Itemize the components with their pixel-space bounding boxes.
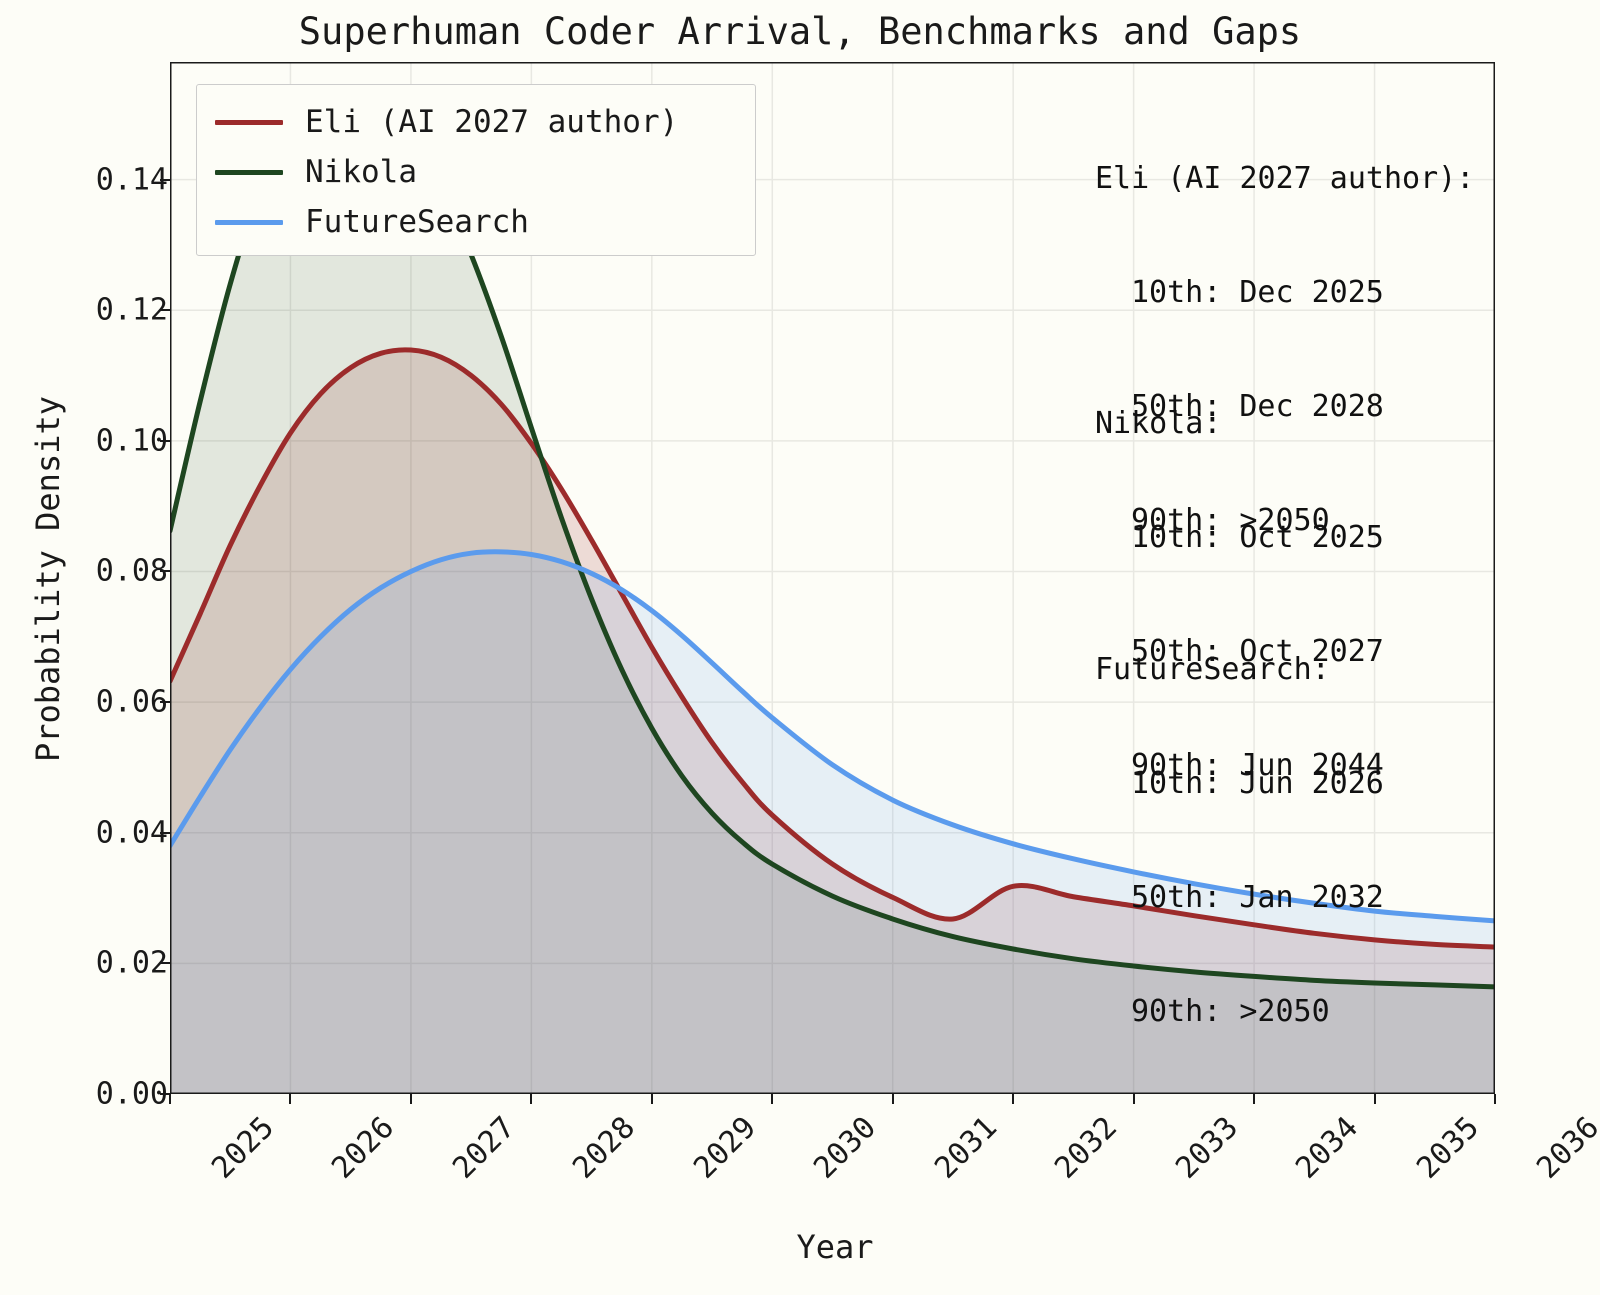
x-tick-label-10: 2035 xyxy=(1410,1110,1486,1186)
x-tick-mark-3 xyxy=(530,1094,532,1104)
legend-swatch-eli xyxy=(215,120,283,125)
x-tick-label-6: 2031 xyxy=(928,1110,1004,1186)
y-tick-mark-5 xyxy=(160,440,170,442)
legend-item-nikola[interactable]: Nikola xyxy=(197,147,755,197)
x-tick-mark-7 xyxy=(1012,1094,1014,1104)
legend: Eli (AI 2027 author) Nikola FutureSearch xyxy=(196,84,756,256)
legend-swatch-futuresearch xyxy=(215,220,283,225)
legend-item-eli[interactable]: Eli (AI 2027 author) xyxy=(197,97,755,147)
x-tick-mark-2 xyxy=(410,1094,412,1104)
y-tick-mark-7 xyxy=(160,179,170,181)
x-tick-label-3: 2028 xyxy=(567,1110,643,1186)
y-tick-label-6: 0.12 xyxy=(28,293,168,328)
y-tick-label-4: 0.08 xyxy=(28,554,168,589)
legend-label-futuresearch: FutureSearch xyxy=(305,204,529,240)
legend-label-nikola: Nikola xyxy=(305,154,417,190)
legend-swatch-nikola xyxy=(215,170,283,175)
chart-figure: Superhuman Coder Arrival, Benchmarks and… xyxy=(0,0,1600,1295)
y-tick-mark-6 xyxy=(160,309,170,311)
annotation-futuresearch-p10: 10th: Jun 2026 xyxy=(1095,765,1384,803)
x-tick-label-9: 2034 xyxy=(1289,1110,1365,1186)
y-tick-mark-1 xyxy=(160,962,170,964)
y-tick-label-3: 0.06 xyxy=(28,685,168,720)
x-tick-mark-1 xyxy=(289,1094,291,1104)
y-tick-label-2: 0.04 xyxy=(28,815,168,850)
y-tick-mark-2 xyxy=(160,832,170,834)
x-tick-mark-4 xyxy=(651,1094,653,1104)
annotation-futuresearch-p90: 90th: >2050 xyxy=(1095,993,1384,1031)
annotation-nikola-p10: 10th: Oct 2025 xyxy=(1095,519,1384,557)
x-tick-label-8: 2033 xyxy=(1169,1110,1245,1186)
x-tick-label-1: 2026 xyxy=(326,1110,402,1186)
annotation-eli-p10: 10th: Dec 2025 xyxy=(1095,274,1474,312)
x-tick-label-0: 2025 xyxy=(205,1110,281,1186)
y-tick-label-5: 0.10 xyxy=(28,423,168,458)
y-tick-mark-3 xyxy=(160,701,170,703)
page-title: Superhuman Coder Arrival, Benchmarks and… xyxy=(0,10,1600,53)
x-tick-mark-0 xyxy=(169,1094,171,1104)
legend-label-eli: Eli (AI 2027 author) xyxy=(305,104,678,140)
annotation-futuresearch-header: FutureSearch: xyxy=(1095,651,1384,689)
y-tick-label-7: 0.14 xyxy=(28,162,168,197)
x-tick-label-7: 2032 xyxy=(1048,1110,1124,1186)
y-tick-label-1: 0.02 xyxy=(28,946,168,981)
y-tick-label-0: 0.00 xyxy=(28,1077,168,1112)
legend-item-futuresearch[interactable]: FutureSearch xyxy=(197,197,755,247)
annotation-futuresearch: FutureSearch: 10th: Jun 2026 50th: Jan 2… xyxy=(1095,575,1384,1107)
x-tick-mark-11 xyxy=(1494,1094,1496,1104)
x-tick-label-5: 2030 xyxy=(807,1110,883,1186)
x-axis-label: Year xyxy=(170,1228,1500,1266)
x-tick-mark-5 xyxy=(771,1094,773,1104)
annotation-nikola-header: Nikola: xyxy=(1095,405,1384,443)
x-tick-label-2: 2027 xyxy=(446,1110,522,1186)
x-tick-mark-6 xyxy=(892,1094,894,1104)
x-tick-label-11: 2036 xyxy=(1530,1110,1600,1186)
annotation-eli-header: Eli (AI 2027 author): xyxy=(1095,160,1474,198)
x-tick-label-4: 2029 xyxy=(687,1110,763,1186)
y-tick-mark-4 xyxy=(160,570,170,572)
annotation-futuresearch-p50: 50th: Jan 2032 xyxy=(1095,879,1384,917)
